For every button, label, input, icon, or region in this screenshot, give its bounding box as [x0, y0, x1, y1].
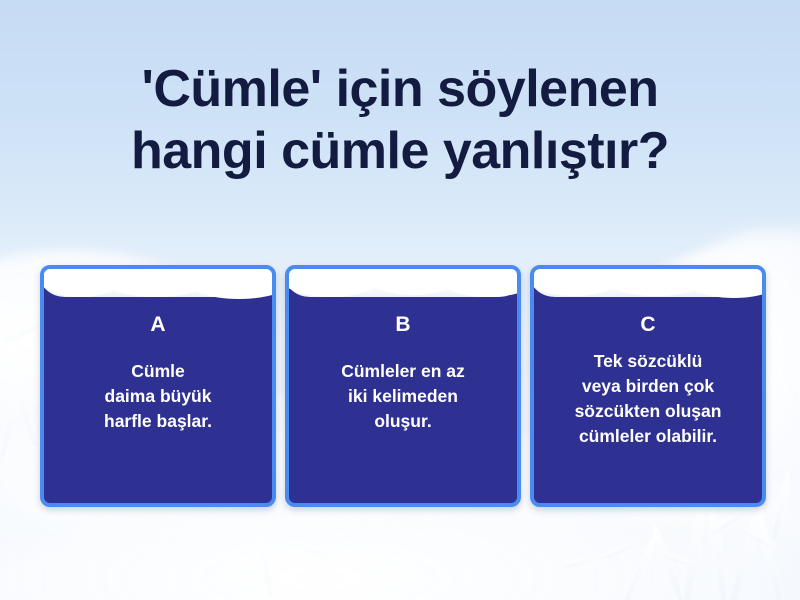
- frost-grass-icon: [681, 492, 708, 600]
- frost-grass-icon: [0, 392, 20, 458]
- frost-grass-icon: [650, 521, 686, 600]
- frost-grass-icon: [771, 470, 792, 540]
- snow-cap-icon: [534, 269, 762, 307]
- snow-bank-decoration: [0, 500, 800, 600]
- answer-letter-b: B: [395, 313, 410, 337]
- snow-cap-icon: [289, 269, 517, 307]
- answer-letter-c: C: [640, 313, 655, 337]
- quiz-slide: 'Cümle' için söylenen hangi cümle yanlış…: [0, 0, 800, 600]
- answer-letter-a: A: [150, 313, 165, 337]
- answer-options-row: A Cümle daima büyük harfle başlar. B Cüm…: [40, 265, 766, 507]
- frost-grass-icon: [600, 541, 634, 560]
- page-title: 'Cümle' için söylenen hangi cümle yanlış…: [20, 58, 780, 182]
- answer-card-a[interactable]: A Cümle daima büyük harfle başlar.: [40, 265, 276, 507]
- frost-grass-icon: [8, 371, 39, 447]
- frost-grass-icon: [621, 536, 657, 600]
- frost-grass-icon: [560, 556, 591, 569]
- answer-card-c[interactable]: C Tek sözcüklü veya birden çok sözcükten…: [530, 265, 766, 507]
- frost-grass-icon: [727, 499, 767, 600]
- frost-grass-icon: [300, 543, 328, 559]
- frost-grass-icon: [257, 534, 275, 596]
- frost-grass-icon: [3, 322, 42, 345]
- answer-text-b: Cümleler en az iki kelimeden oluşur.: [331, 359, 475, 434]
- answer-card-a-body: A Cümle daima büyük harfle başlar.: [44, 269, 272, 503]
- snow-cap-icon: [44, 269, 272, 307]
- frost-grass-icon: [755, 512, 784, 600]
- frost-grass-icon: [708, 505, 728, 600]
- answer-card-b[interactable]: B Cümleler en az iki kelimeden oluşur.: [285, 265, 521, 507]
- frost-grass-icon: [707, 509, 744, 537]
- answer-text-c: Tek sözcüklü veya birden çok sözcükten o…: [565, 349, 732, 449]
- answer-card-b-body: B Cümleler en az iki kelimeden oluşur.: [289, 269, 517, 503]
- answer-text-a: Cümle daima büyük harfle başlar.: [94, 359, 222, 434]
- frost-grass-icon: [662, 552, 692, 567]
- answer-card-c-body: C Tek sözcüklü veya birden çok sözcükten…: [534, 269, 762, 503]
- frost-grass-icon: [743, 528, 778, 550]
